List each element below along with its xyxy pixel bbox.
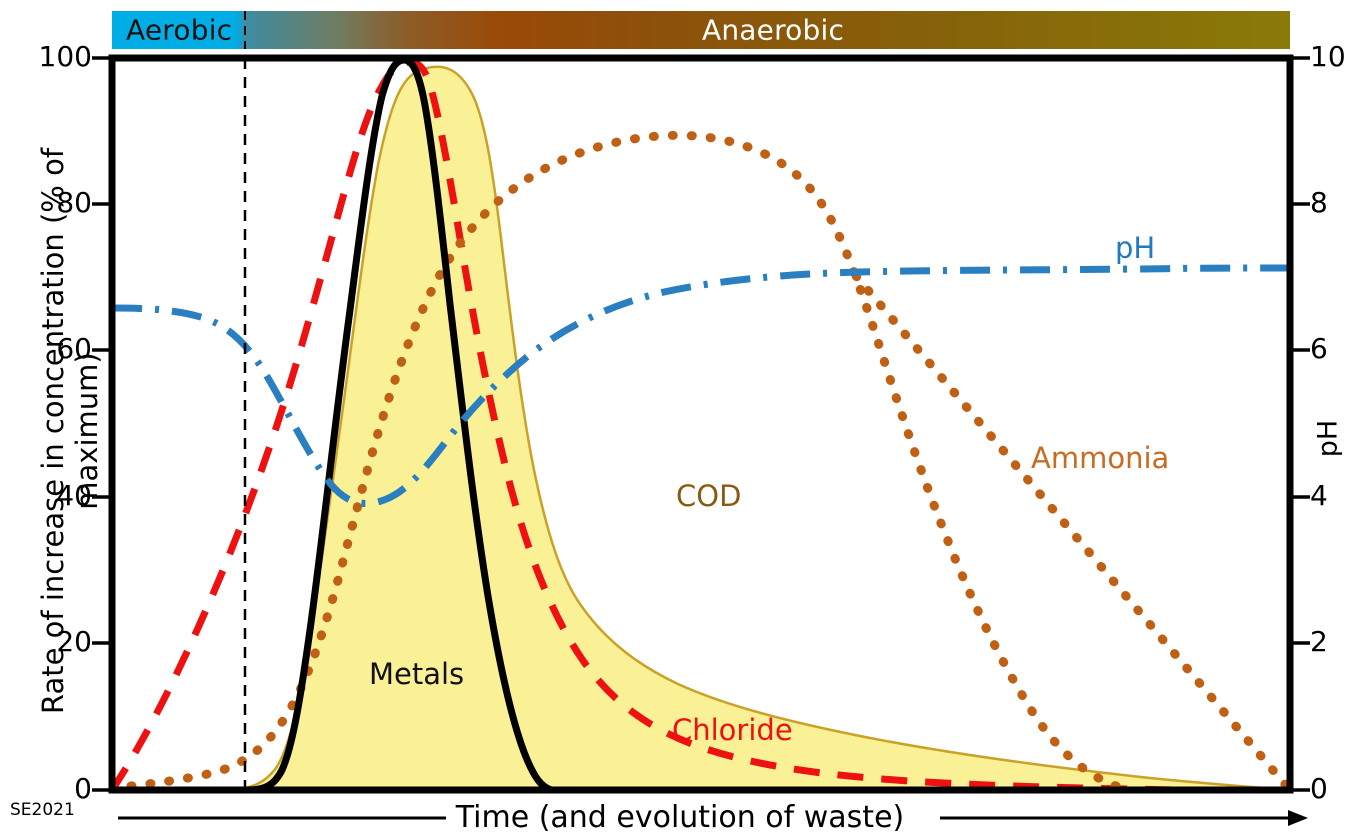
y-axis-left-title: Rate of increase in concentration (% of … (36, 101, 104, 761)
x-axis-title: Time (and evolution of waste) (0, 800, 1360, 835)
series-label-chloride: Chloride (672, 713, 793, 747)
series-cod (112, 67, 1290, 790)
series-label-ammonia: Ammonia (1031, 441, 1169, 475)
plot-frame (112, 58, 1290, 790)
ytick-right-10: 10 (1310, 40, 1360, 73)
x-axis-title-text: Time (and evolution of waste) (446, 800, 914, 835)
credit-watermark: SE2021 (10, 800, 75, 820)
landfill-leachate-chart: Aerobic Anaerobic (0, 0, 1360, 838)
series-label-metals: Metals (369, 657, 464, 691)
series-label-cod: COD (676, 479, 741, 513)
y-axis-right-title: pH (1313, 369, 1344, 509)
ytick-right-2: 2 (1310, 625, 1360, 658)
series-chloride (112, 62, 1290, 790)
ytick-right-6: 6 (1310, 332, 1360, 365)
ytick-left-100: 100 (8, 40, 92, 73)
series-label-ph: pH (1115, 231, 1155, 265)
ytick-right-8: 8 (1310, 186, 1360, 219)
